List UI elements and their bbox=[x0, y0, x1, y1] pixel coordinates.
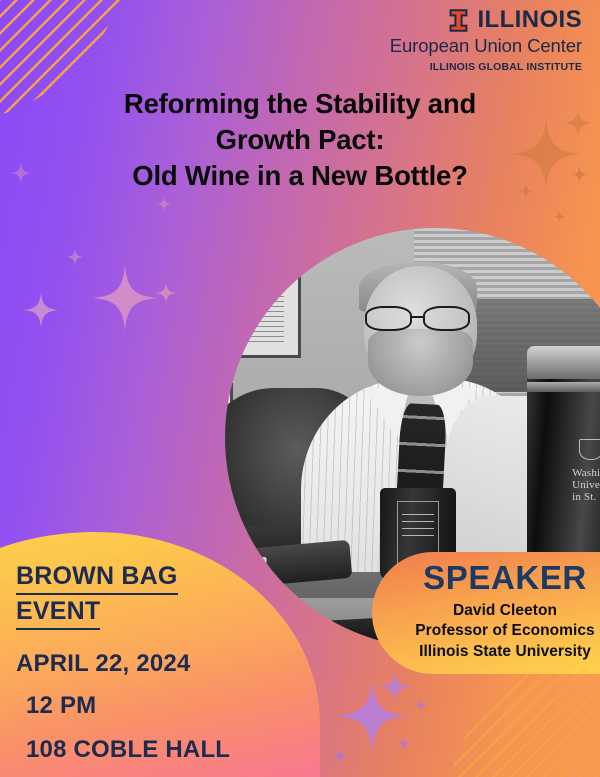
speaker-panel: SPEAKER David Cleeton Professor of Econo… bbox=[372, 552, 600, 674]
brand-wordmark: ILLINOIS bbox=[477, 8, 582, 32]
title-line-2: Growth Pact: bbox=[34, 122, 566, 158]
sparkle-icon bbox=[378, 670, 412, 704]
photo-tumbler-wordmark: Washington University in St. Louis bbox=[572, 468, 600, 504]
page-title: Reforming the Stability and Growth Pact:… bbox=[0, 86, 600, 193]
photo-tumbler-line-3: in St. Louis bbox=[572, 492, 600, 504]
event-kicker-line-1: BROWN BAG bbox=[16, 560, 286, 595]
event-kicker-line-2: EVENT bbox=[16, 595, 286, 630]
sparkle-icon bbox=[92, 265, 158, 331]
photo-frame-lines bbox=[225, 281, 284, 343]
sparkle-icon bbox=[66, 248, 84, 266]
title-line-3: Old Wine in a New Bottle? bbox=[34, 158, 566, 194]
event-poster: Washington University in St. Louis ILLIN… bbox=[0, 0, 600, 777]
sparkle-icon bbox=[155, 282, 177, 304]
sparkle-icon bbox=[332, 748, 348, 764]
sparkle-icon bbox=[553, 210, 566, 223]
event-details: BROWN BAG EVENT APRIL 22, 2024 12 PM 108… bbox=[16, 560, 286, 764]
photo-tumbler-ring bbox=[527, 382, 600, 392]
photo-wall-frame bbox=[225, 266, 301, 358]
brand-institute-name: ILLINOIS GLOBAL INSTITUTE bbox=[390, 61, 582, 73]
photo-glasses-lens bbox=[423, 306, 471, 331]
sparkle-icon bbox=[156, 196, 172, 212]
speaker-heading: SPEAKER bbox=[398, 561, 600, 596]
photo-tumbler-line-2: University bbox=[572, 480, 600, 492]
sparkle-icon bbox=[414, 698, 428, 712]
speaker-name: David Cleeton bbox=[398, 601, 600, 621]
event-location: 108 COBLE HALL bbox=[26, 736, 286, 764]
event-date: APRIL 22, 2024 bbox=[16, 650, 286, 678]
sparkle-icon bbox=[396, 736, 411, 751]
photo-tumbler-lid bbox=[527, 346, 600, 380]
event-time: 12 PM bbox=[26, 692, 286, 720]
photo-tumbler-crest bbox=[579, 439, 600, 460]
sparkle-icon bbox=[336, 680, 408, 752]
brand-primary-row: ILLINOIS bbox=[390, 8, 582, 32]
sparkle-icon bbox=[23, 292, 59, 328]
photo-glasses-bridge bbox=[412, 316, 424, 318]
speaker-affiliation: Illinois State University bbox=[398, 642, 600, 662]
illinois-block-i-icon bbox=[449, 9, 468, 32]
photo-beard bbox=[368, 329, 473, 396]
glasses-icon bbox=[364, 306, 477, 331]
event-kicker: BROWN BAG EVENT bbox=[16, 560, 286, 630]
title-line-1: Reforming the Stability and bbox=[34, 86, 566, 122]
photo-mug-label-lines bbox=[402, 514, 434, 516]
photo-glasses-lens bbox=[365, 306, 413, 331]
brand-unit-name: European Union Center bbox=[390, 36, 582, 56]
illinois-european-union-center-logo: ILLINOIS European Union Center ILLINOIS … bbox=[390, 8, 582, 73]
speaker-role: Professor of Economics bbox=[398, 621, 600, 641]
